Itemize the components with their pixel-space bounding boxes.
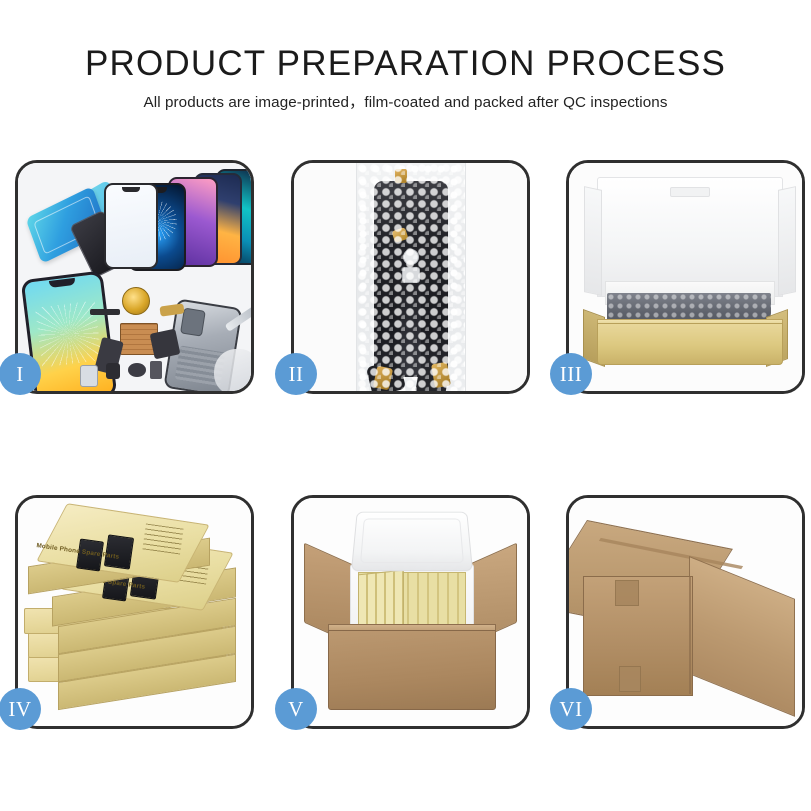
process-step-5: V	[291, 495, 530, 729]
white-inner-lid	[597, 177, 783, 297]
carton-tape-upper	[615, 580, 639, 606]
step-badge-4: IV	[0, 688, 41, 730]
tempered-glass-panel	[104, 183, 158, 269]
screen-connector-round	[403, 249, 419, 265]
earpiece-part	[90, 309, 120, 315]
process-step-grid: I	[15, 160, 807, 732]
kraft-box-1-spec-lines	[142, 523, 183, 554]
step-2-image	[294, 163, 527, 391]
carton-front-panel	[328, 630, 496, 710]
gold-contact-top	[395, 169, 407, 183]
process-step-1: I	[15, 160, 254, 394]
kraft-boxes-inside-angled	[358, 570, 404, 631]
process-step-4: Mobile Phone Spare Parts Mobile Phone Sp…	[15, 495, 254, 729]
small-component-3	[150, 361, 162, 379]
page-subtitle: All products are image-printed，film-coat…	[0, 81, 811, 110]
technician-hand	[214, 349, 251, 391]
screen-connector-square	[402, 267, 420, 283]
process-step-3: III	[566, 160, 805, 394]
step-badge-2: II	[275, 353, 317, 395]
header: PRODUCT PREPARATION PROCESS All products…	[0, 0, 811, 110]
carton-tape-lower	[619, 666, 641, 692]
step-badge-3: III	[550, 353, 592, 395]
step-6-image	[569, 498, 802, 726]
step-badge-5: V	[275, 688, 317, 730]
process-step-6: VI	[566, 495, 805, 729]
vibration-motor-part	[122, 287, 150, 315]
product-preparation-infographic: PRODUCT PREPARATION PROCESS All products…	[0, 0, 811, 811]
camera-module-part	[150, 329, 181, 360]
kraft-box-front	[597, 323, 783, 365]
gold-contact-bottom-right	[431, 362, 451, 388]
small-component-1	[106, 363, 120, 379]
kraft-box-stack: Mobile Phone Spare Parts Mobile Phone Sp…	[22, 512, 251, 718]
step-badge-6: VI	[550, 688, 592, 730]
step-3-image	[569, 163, 802, 391]
small-component-2	[128, 363, 146, 377]
step-5-image	[294, 498, 527, 726]
bubble-wrap-bag	[356, 163, 466, 391]
lid-tab	[670, 187, 710, 197]
step-4-image: Mobile Phone Spare Parts Mobile Phone Sp…	[18, 498, 251, 726]
process-step-2: II	[291, 160, 530, 394]
step-badge-1: I	[0, 353, 41, 395]
page-title: PRODUCT PREPARATION PROCESS	[0, 0, 811, 81]
carton-vertical-edge	[689, 576, 691, 694]
step-1-image	[18, 163, 251, 391]
foam-lid	[351, 512, 473, 571]
small-component-4	[80, 365, 98, 387]
